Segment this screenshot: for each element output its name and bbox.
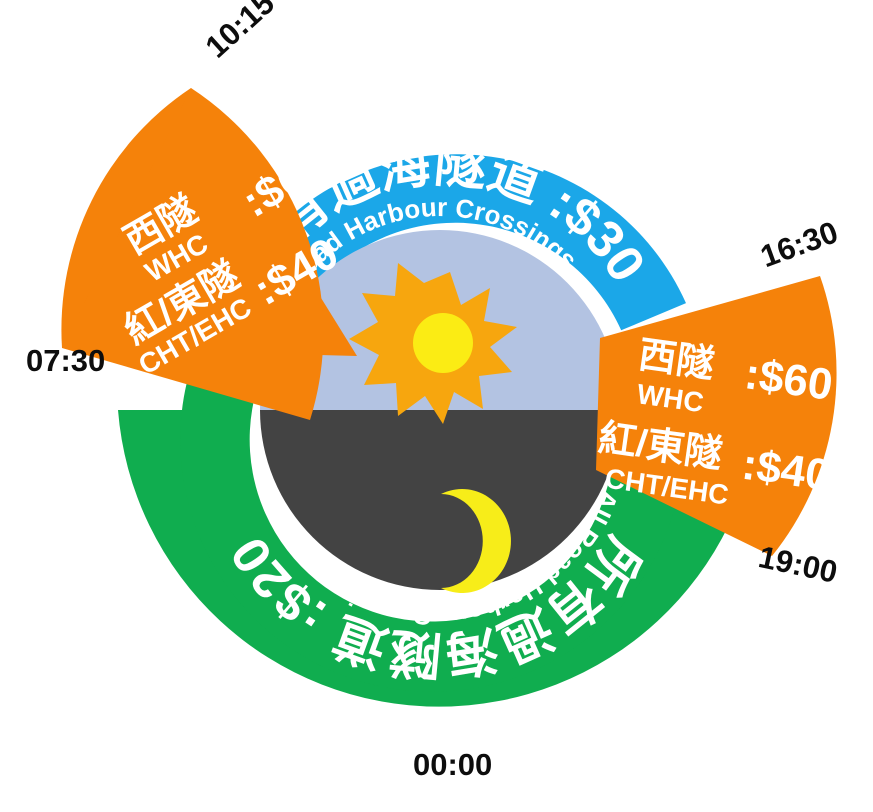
time-label-0000: 00:00 [413, 747, 492, 782]
infographic-canvas: 所有過海隧道 :$20 All Road Harbour Crossings 所… [0, 0, 873, 812]
time-label-1900: 19:00 [756, 539, 841, 590]
time-label-0730: 07:30 [26, 343, 105, 378]
toll-clock-diagram: 所有過海隧道 :$20 All Road Harbour Crossings 所… [0, 0, 873, 812]
time-label-1015: 10:15 [199, 0, 281, 65]
time-label-1630: 16:30 [756, 214, 842, 274]
